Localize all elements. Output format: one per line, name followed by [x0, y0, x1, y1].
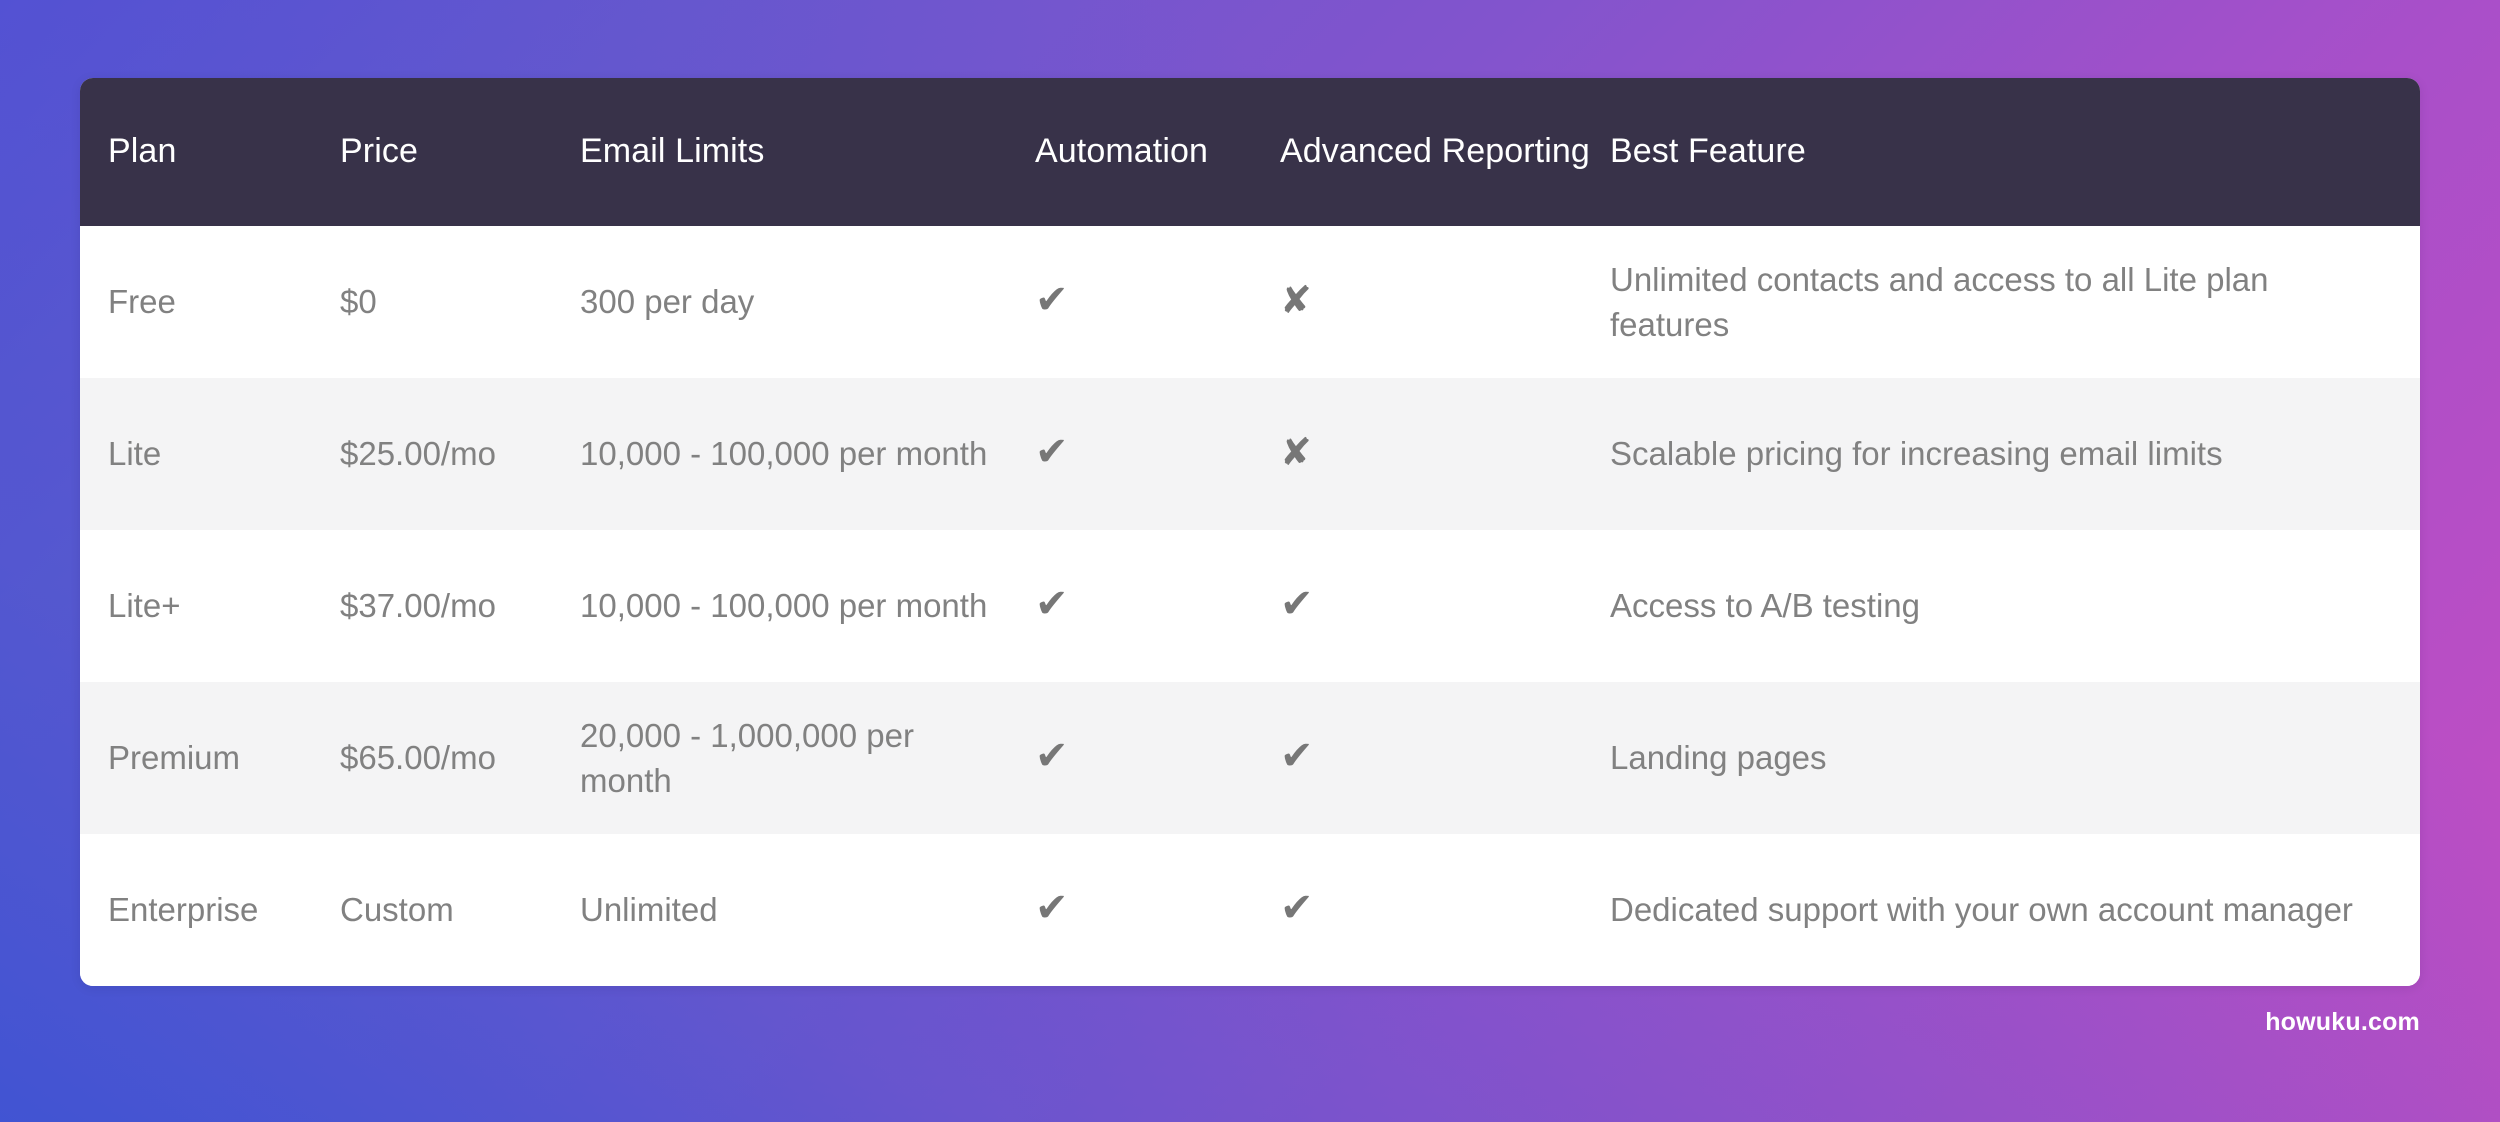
cell-feature: Access to A/B testing [1610, 583, 2392, 628]
cell-plan: Free [108, 279, 340, 324]
cell-reporting: ✔ [1280, 735, 1610, 780]
cell-automation: ✔ [1035, 583, 1280, 628]
column-header-plan: Plan [108, 131, 340, 173]
cell-automation: ✔ [1035, 431, 1280, 476]
cell-feature: Unlimited contacts and access to all Lit… [1610, 257, 2392, 347]
cross-icon: ✘ [1280, 434, 1312, 472]
cell-plan: Premium [108, 735, 340, 780]
cell-plan: Enterprise [108, 887, 340, 932]
cell-automation: ✔ [1035, 887, 1280, 932]
cell-feature: Landing pages [1610, 735, 2392, 780]
cell-feature: Scalable pricing for increasing email li… [1610, 431, 2392, 476]
cell-reporting: ✔ [1280, 583, 1610, 628]
cell-reporting: ✔ [1280, 887, 1610, 932]
column-header-limits: Email Limits [580, 131, 1035, 173]
column-header-feature: Best Feature [1610, 131, 2392, 173]
table-row: Free $0 300 per day ✔ ✘ Unlimited contac… [80, 226, 2420, 378]
cell-price: $0 [340, 279, 580, 324]
table-row: Lite $25.00/mo 10,000 - 100,000 per mont… [80, 378, 2420, 530]
cell-feature: Dedicated support with your own account … [1610, 887, 2392, 932]
watermark-label: howuku.com [2265, 1008, 2420, 1037]
cell-limits: 300 per day [580, 279, 1035, 324]
page-container: Plan Price Email Limits Automation Advan… [0, 0, 2500, 1122]
check-icon: ✔ [1035, 280, 1069, 320]
cell-price: $25.00/mo [340, 431, 580, 476]
table-row: Lite+ $37.00/mo 10,000 - 100,000 per mon… [80, 530, 2420, 682]
check-icon: ✔ [1035, 584, 1069, 624]
cell-price: $37.00/mo [340, 583, 580, 628]
cell-limits: 10,000 - 100,000 per month [580, 431, 1035, 476]
cell-reporting: ✘ [1280, 279, 1610, 324]
column-header-reporting: Advanced Reporting [1280, 131, 1610, 173]
column-header-automation: Automation [1035, 131, 1280, 173]
cross-icon: ✘ [1280, 282, 1312, 320]
cell-plan: Lite+ [108, 583, 340, 628]
cell-price: $65.00/mo [340, 735, 580, 780]
pricing-comparison-table: Plan Price Email Limits Automation Advan… [80, 78, 2420, 986]
column-header-price: Price [340, 131, 580, 173]
cell-limits: 20,000 - 1,000,000 per month [580, 713, 1035, 803]
cell-limits: Unlimited [580, 887, 1035, 932]
cell-automation: ✔ [1035, 279, 1280, 324]
check-icon: ✔ [1280, 584, 1314, 624]
check-icon: ✔ [1280, 736, 1314, 776]
check-icon: ✔ [1280, 888, 1314, 928]
check-icon: ✔ [1035, 888, 1069, 928]
table-row: Enterprise Custom Unlimited ✔ ✔ Dedicate… [80, 834, 2420, 986]
cell-price: Custom [340, 887, 580, 932]
cell-reporting: ✘ [1280, 431, 1610, 476]
table-header-row: Plan Price Email Limits Automation Advan… [80, 78, 2420, 226]
check-icon: ✔ [1035, 736, 1069, 776]
table-row: Premium $65.00/mo 20,000 - 1,000,000 per… [80, 682, 2420, 834]
check-icon: ✔ [1035, 432, 1069, 472]
cell-plan: Lite [108, 431, 340, 476]
cell-automation: ✔ [1035, 735, 1280, 780]
cell-limits: 10,000 - 100,000 per month [580, 583, 1035, 628]
